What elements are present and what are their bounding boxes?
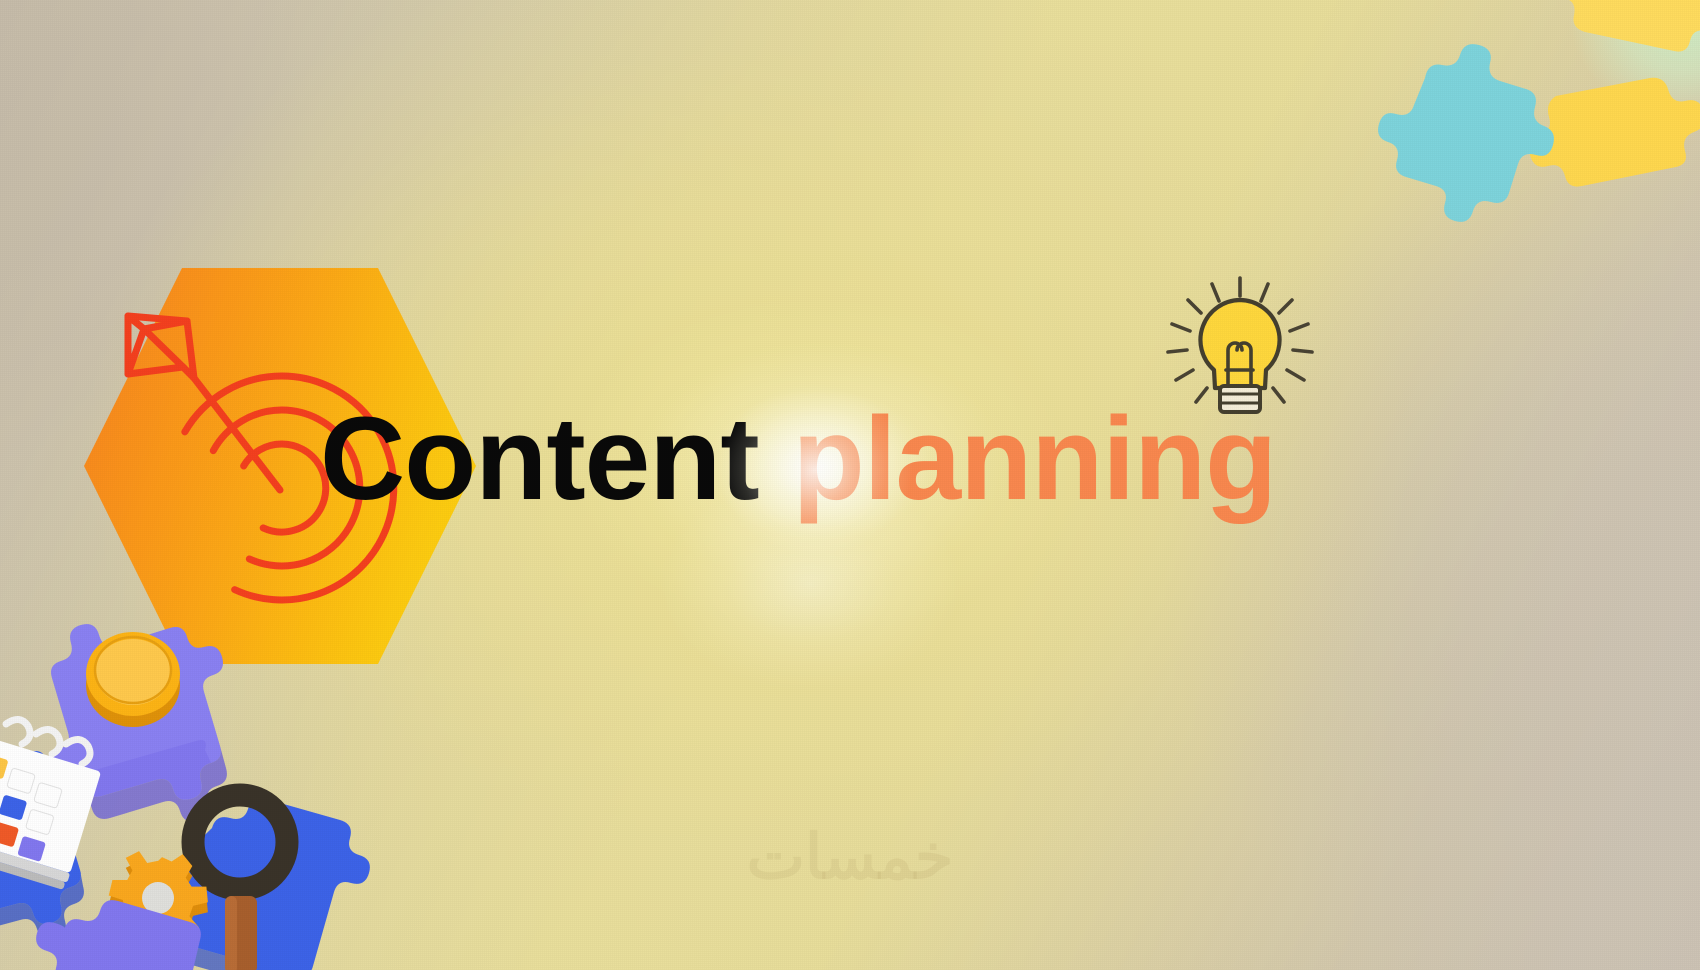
watermark-text: خمسات: [0, 820, 1700, 893]
page-title: Contentplanning: [320, 398, 1276, 522]
headline-word-one: Content: [320, 393, 759, 525]
headline-word-two: planning: [793, 393, 1277, 525]
background-green-corner: [1500, 0, 1700, 150]
banner-canvas: Contentplanning: [0, 0, 1700, 970]
